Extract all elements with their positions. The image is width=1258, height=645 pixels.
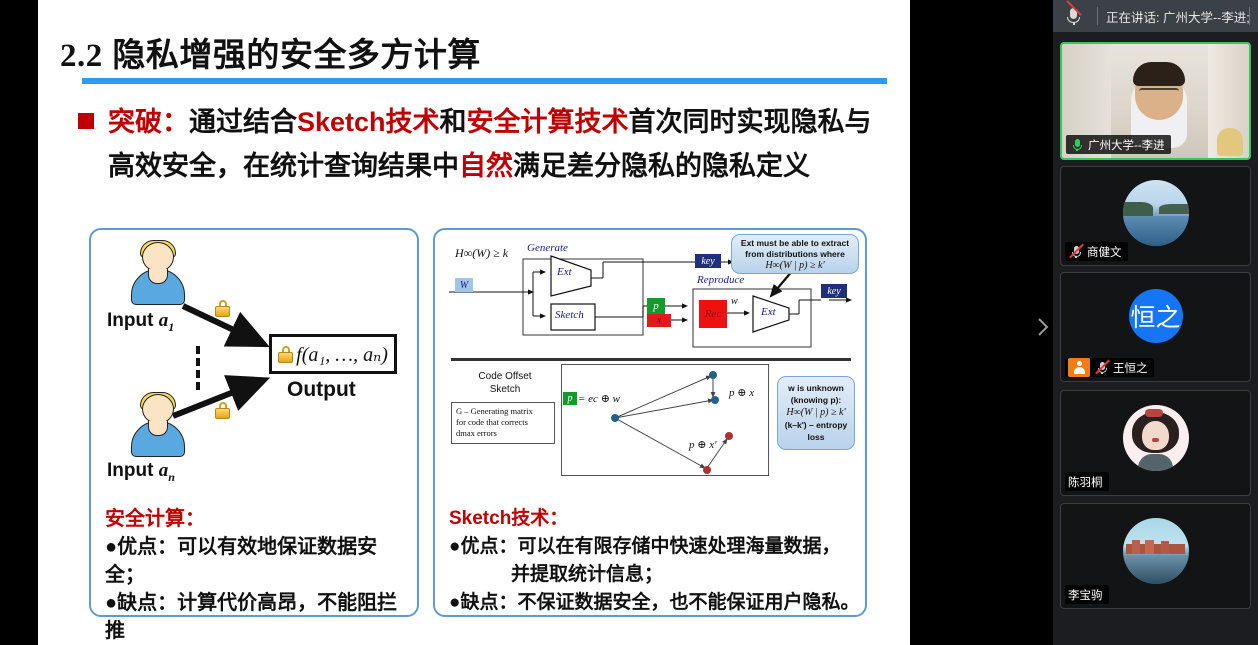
host-icon [1068,358,1090,377]
participant-name: 李宝驹 [1068,587,1103,603]
notes-heading: 安全计算： [105,505,415,533]
participant-avatar-icon [129,394,187,456]
w-tag: W [455,278,473,292]
mic-muted-icon [1094,360,1110,376]
callout-line: w is unknown [788,383,844,393]
x-tag: x [647,314,671,327]
chevron-right-icon[interactable] [1036,316,1050,338]
bullet-seg: 高效安全，在统计查询结果中 [108,151,459,181]
callout-line: loss [807,432,824,442]
ext-extraction-callout: Ext must be able to extract from distrib… [731,234,859,274]
avatar-initials: 恒之 [1129,289,1183,343]
notes-line: ●优点：可以有效地保证数据安全； [105,533,415,589]
title-text: 隐私增强的安全多方计算 [112,36,481,73]
bullet-seg: 首次同时实现隐私与 [629,107,872,137]
shared-screen-stage: 2.2 隐私增强的安全多方计算 突破：通过结合Sketch技术和安全计算技术首次… [0,0,1053,645]
header-divider [1097,7,1098,25]
callout-line: H∞(W | p) ≥ k' [765,260,824,271]
notes-line: ●优点：可以在有限存储中快速处理海量数据， [449,533,861,561]
callout-line: Ext must be able to extract [741,238,849,248]
padlock-icon [215,402,230,419]
bullet-line-2: 高效安全，在统计查询结果中自然满足差分隐私的隐私定义 [108,144,872,188]
bullet-seg: Sketch技术 [297,107,440,137]
participant-tile-4[interactable]: 李宝驹 [1060,503,1251,609]
participant-name-badge: 商健文 [1065,242,1128,261]
padlock-icon [278,346,293,363]
sketch-label: Sketch [555,309,584,321]
callout-line: (knowing p): [791,395,842,405]
participant-tile-1[interactable]: 商健文 [1060,166,1251,266]
participant-name: 王恒之 [1113,360,1148,376]
bullet-seg: 满足差分隐私的隐私定义 [513,151,810,181]
bullet-seg: 安全计算技术 [467,107,629,137]
figure-top: Generate Reproduce H∞(W) ≥ k W Ext Sketc… [441,234,861,352]
page-title: 2.2 隐私增强的安全多方计算 [60,28,481,76]
title-number: 2.2 [60,38,103,74]
sketch-technique-notes: Sketch技术： ●优点：可以在有限存储中快速处理海量数据， 并提取统计信息；… [449,505,861,617]
code-offset-title: Code Offset Sketch [465,370,545,396]
secure-computation-card: Input a1 Input an [89,228,419,617]
callout-line: from distributions where [745,249,845,259]
header-divider-right [1249,7,1250,25]
participant-name-badge: 王恒之 [1065,358,1154,377]
secure-computation-notes: 安全计算： ●优点：可以有效地保证数据安全； ●缺点：计算代价高昂，不能阻拦推 … [105,505,415,645]
participants-panel: 正在讲话: 广州大学--李进; 广州大学--李进 [1053,0,1258,645]
output-formula-box: f(a₁, …, aₙ) [269,334,397,374]
edge-label-1: p ⊕ x [729,386,754,399]
rec-box: Rec [699,300,727,328]
avatar: 恒之 [1129,289,1183,343]
callout-line: (k–k') – entropy [785,420,847,430]
participant-name: 商健文 [1087,244,1122,260]
notes-line: ●缺点：不保证数据安全，也不能保证用户隐私。 [449,589,861,617]
output-formula: f(a₁, …, aₙ) [296,342,388,367]
participant-tile-0[interactable]: 广州大学--李进 [1060,42,1251,160]
input-label-1: Input a1 [107,310,174,335]
ext-label-2: Ext [761,306,776,318]
presentation-slide: 2.2 隐私增强的安全多方计算 突破：通过结合Sketch技术和安全计算技术首次… [38,0,910,645]
participant-tile-3[interactable]: 陈羽桐 [1060,390,1251,496]
avatar [1123,518,1189,584]
notes-heading: Sketch技术： [449,505,861,533]
participant-tile-2[interactable]: 恒之 王恒之 [1060,272,1251,382]
codebox-line: for code that corrects [456,417,550,428]
notes-line: 并提取统计信息； [449,561,861,589]
fuzzy-extractor-figure: Generate Reproduce H∞(W) ≥ k W Ext Sketc… [441,234,861,504]
square-bullet-icon [78,113,94,129]
reproduce-label: Reproduce [697,274,744,286]
secure-computation-diagram: Input a1 Input an [91,234,421,496]
active-speaker-label: 正在讲话: 广州大学--李进; [1106,7,1258,26]
bullet-seg: 和 [440,107,467,137]
generating-matrix-box: G – Generating matrix for code that corr… [451,402,555,444]
vertical-ellipsis [196,346,200,390]
figure-bottom: Code Offset Sketch G – Generating matrix… [441,366,861,490]
bullet-block: 突破：通过结合Sketch技术和安全计算技术首次同时实现隐私与 高效安全，在统计… [78,100,908,188]
sketch-technique-card: Generate Reproduce H∞(W) ≥ k W Ext Sketc… [433,228,867,617]
bullet-line-1: 突破：通过结合Sketch技术和安全计算技术首次同时实现隐私与 [108,100,872,144]
generate-label: Generate [527,242,568,254]
callout-line: H∞(W | p) ≥ k' [786,407,845,418]
figure-divider [451,358,851,361]
edge-label-2: p ⊕ x' [689,438,716,451]
participant-avatar-icon [129,242,187,304]
key-tag-2: key [821,284,847,298]
mic-on-icon [1069,137,1085,153]
codebox-line: G – Generating matrix [456,406,550,417]
app-root: 2.2 隐私增强的安全多方计算 突破：通过结合Sketch技术和安全计算技术首次… [0,0,1258,645]
bullet-seg: 自然 [459,151,513,181]
output-label: Output [287,378,356,402]
participant-name: 广州大学--李进 [1088,137,1165,153]
p-tag: p [647,298,665,314]
entropy-condition: H∞(W) ≥ k [455,246,508,261]
mic-muted-icon[interactable] [1059,6,1089,26]
bullet-seg: 突破： [108,107,189,137]
participant-name-badge: 李宝驹 [1065,585,1109,604]
panel-header: 正在讲话: 广州大学--李进; [1053,0,1258,32]
avatar [1123,180,1189,246]
padlock-icon [215,300,230,317]
entropy-loss-callout: w is unknown (knowing p): H∞(W | p) ≥ k'… [777,376,855,450]
mic-muted-icon [1068,244,1084,260]
participant-name: 陈羽桐 [1068,474,1103,490]
notes-line: ●缺点：计算代价高昂，不能阻拦推 [105,589,415,645]
title-underline [82,78,887,84]
bullet-seg: 通过结合 [189,107,297,137]
input-label-n: Input an [107,460,175,485]
participant-name-badge: 广州大学--李进 [1066,135,1171,154]
ext-label-1: Ext [557,266,572,278]
key-tag-1: key [695,254,721,268]
code-offset-vectors [561,364,769,476]
avatar [1123,405,1189,471]
participant-name-badge: 陈羽桐 [1065,472,1109,491]
codebox-line: dmax errors [456,428,550,439]
w-small-label: w [731,296,738,307]
